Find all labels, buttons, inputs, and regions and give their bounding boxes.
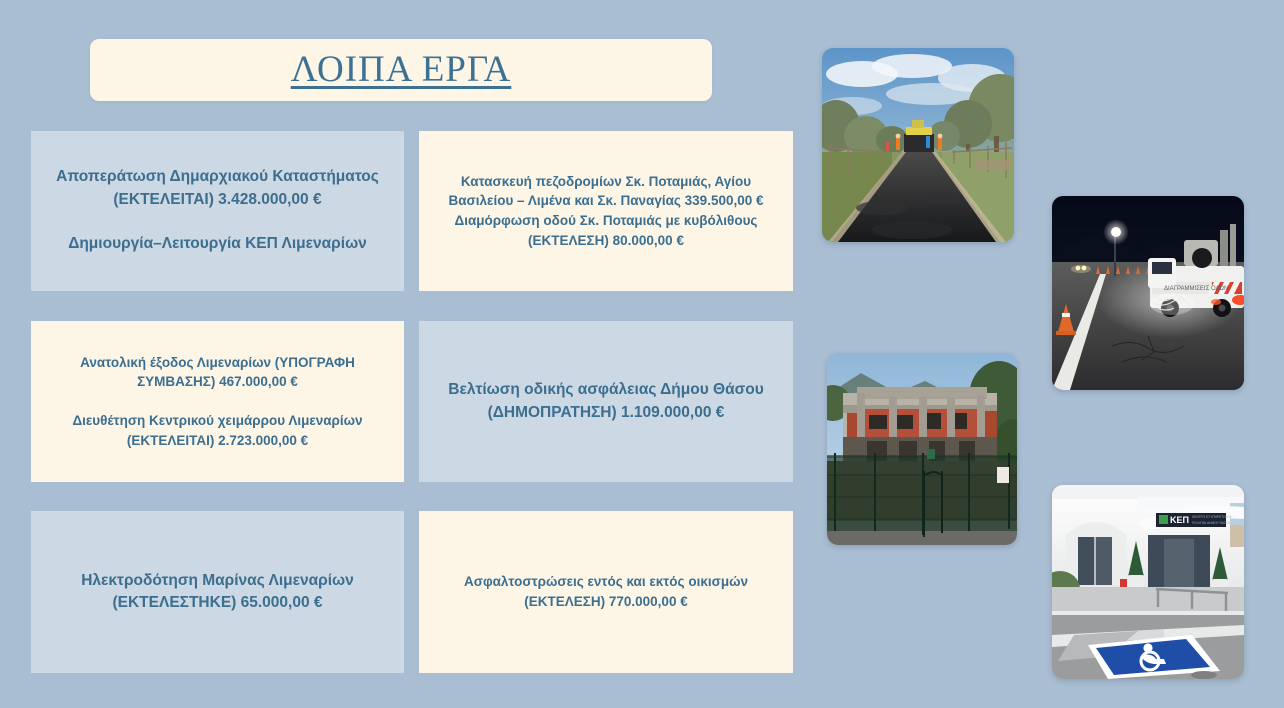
kep-sign-text: ΚΕΠ	[1170, 515, 1189, 525]
info-card-3: Ανατολική έξοδος Λιμεναρίων (ΥΠΟΓΡΑΦΗ ΣΥ…	[31, 321, 404, 482]
photo-night-road-marking: ΔΙΑΓΡΑΜΜΙΣΕΙΣ ΟΔΩΝ	[1052, 196, 1244, 390]
page-title: ΛΟΙΠΑ ΕΡΓΑ	[291, 50, 512, 91]
info-card-1: Αποπεράτωση Δημαρχιακού Καταστήματος (ΕΚ…	[31, 131, 404, 291]
info-card-5: Ηλεκτροδότηση Μαρίνας Λιμεναρίων (ΕΚΤΕΛΕ…	[31, 511, 404, 673]
info-card-3-text: Ανατολική έξοδος Λιμεναρίων (ΥΠΟΓΡΑΦΗ ΣΥ…	[45, 353, 390, 451]
photo-kep-building-image: ΚΕΠ ΚΕΝΤΡΟ ΕΞΥΠΗΡΕΤΗΣΗΣ ΠΟΛΙΤΩΝ ΔΗΜΟΥ ΘΑ…	[1052, 485, 1244, 679]
info-card-5-text: Ηλεκτροδότηση Μαρίνας Λιμεναρίων (ΕΚΤΕΛΕ…	[45, 570, 390, 615]
info-card-4: Βελτίωση οδικής ασφάλειας Δήμου Θάσου (Δ…	[419, 321, 793, 482]
photo-road-paving-image	[822, 48, 1014, 242]
info-card-2: Κατασκευή πεζοδρομίων Σκ. Ποταμιάς, Αγίο…	[419, 131, 793, 291]
svg-text:ΠΟΛΙΤΩΝ ΔΗΜΟΥ ΘΑΣΟΥ: ΠΟΛΙΤΩΝ ΔΗΜΟΥ ΘΑΣΟΥ	[1192, 521, 1231, 525]
photo-road-paving	[822, 48, 1014, 242]
photo-kep-building: ΚΕΠ ΚΕΝΤΡΟ ΕΞΥΠΗΡΕΤΗΣΗΣ ΠΟΛΙΤΩΝ ΔΗΜΟΥ ΘΑ…	[1052, 485, 1244, 679]
truck-side-text: ΔΙΑΓΡΑΜΜΙΣΕΙΣ ΟΔΩΝ	[1164, 286, 1228, 292]
info-card-2-text: Κατασκευή πεζοδρομίων Σκ. Ποταμιάς, Αγίο…	[433, 172, 779, 250]
photo-building-construction-image	[827, 353, 1017, 545]
slide-title-box: ΛΟΙΠΑ ΕΡΓΑ	[90, 39, 712, 101]
info-card-1-text: Αποπεράτωση Δημαρχιακού Καταστήματος (ΕΚ…	[45, 166, 390, 256]
svg-text:ΚΕΝΤΡΟ ΕΞΥΠΗΡΕΤΗΣΗΣ: ΚΕΝΤΡΟ ΕΞΥΠΗΡΕΤΗΣΗΣ	[1192, 515, 1232, 519]
info-card-6: Ασφαλτοστρώσεις εντός και εκτός οικισμών…	[419, 511, 793, 673]
info-card-6-text: Ασφαλτοστρώσεις εντός και εκτός οικισμών…	[433, 572, 779, 611]
photo-building-construction	[827, 353, 1017, 545]
slide-root: ΛΟΙΠΑ ΕΡΓΑ Αποπεράτωση Δημαρχιακού Κατασ…	[0, 0, 1284, 708]
info-card-4-text: Βελτίωση οδικής ασφάλειας Δήμου Θάσου (Δ…	[433, 379, 779, 424]
photo-night-road-marking-image: ΔΙΑΓΡΑΜΜΙΣΕΙΣ ΟΔΩΝ	[1052, 196, 1244, 390]
